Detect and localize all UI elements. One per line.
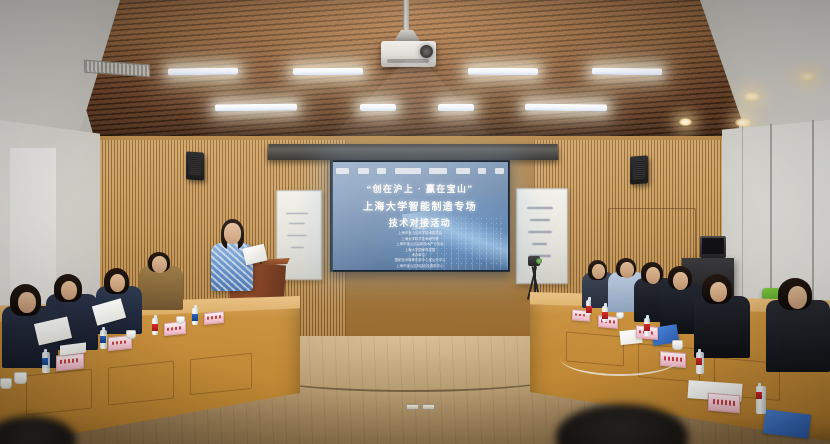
projection-screen-valance (268, 144, 559, 160)
ceiling-light-panel (168, 68, 238, 76)
slide-logo-icon (358, 168, 369, 174)
slide-logo-icon (495, 168, 504, 174)
attendee-torso (694, 296, 750, 358)
ceiling-light-panel (592, 68, 662, 76)
water-bottle (602, 306, 608, 322)
name-placard (204, 311, 224, 325)
ceiling-light-panel (293, 68, 363, 75)
conference-room-photo: “创在沪上 · 赢在宝山” 上海大学智能制造专场 技术对接活动 主办单位： 上海… (0, 0, 830, 444)
attendee-head (673, 272, 688, 290)
floor-power-outlet (406, 404, 419, 410)
name-placard (708, 393, 740, 414)
attendee-head (110, 274, 125, 292)
ceiling-light-panel (215, 104, 297, 112)
floor-power-outlet (422, 404, 435, 410)
projector-mount-pole (403, 0, 409, 33)
recessed-downlight (744, 92, 760, 101)
attendee-head (592, 264, 605, 279)
paper-cup (0, 378, 12, 389)
whiteboard-right (516, 188, 568, 284)
paper-cup (126, 330, 136, 339)
attendee-torso (766, 300, 830, 372)
tripod-leg (534, 266, 536, 296)
wall-speaker-right (630, 155, 648, 184)
projector-lens-icon (420, 45, 433, 58)
recessed-downlight (679, 118, 692, 126)
presentation-slide: “创在沪上 · 赢在宝山” 上海大学智能制造专场 技术对接活动 主办单位： 上海… (332, 162, 508, 270)
name-placard (598, 315, 618, 329)
slide-logo-icon (377, 168, 386, 174)
water-bottle (100, 330, 107, 349)
ceiling-light-panel (360, 104, 396, 111)
table-panel (190, 353, 252, 396)
table-panel (26, 369, 92, 416)
attendee-head (620, 262, 634, 278)
slide-credit-line: 上海大学国家科技园 (405, 248, 436, 252)
slide-logo-icon (429, 168, 447, 174)
water-bottle (586, 300, 591, 315)
slide-credits-block: 主办单位： 上海市宝山区科学技术委员会 上海大学科学技术研究院 上海市宝山区高新… (332, 226, 508, 268)
water-bottle (42, 352, 50, 373)
projection-screen: “创在沪上 · 赢在宝山” 上海大学智能制造专场 技术对接活动 主办单位： 上海… (330, 160, 510, 272)
screen-left-edge (330, 160, 333, 272)
attendee-head (18, 292, 36, 313)
paper-cup (672, 340, 683, 350)
presenter-head (224, 223, 241, 244)
slide-logo-icon (336, 168, 349, 174)
water-bottle (152, 318, 158, 335)
slide-title-block: “创在沪上 · 赢在宝山” 上海大学智能制造专场 技术对接活动 (332, 182, 508, 229)
slide-credit-line: 主办单位： (412, 226, 429, 230)
ceiling-light-panel (468, 68, 538, 75)
slide-logo-row (336, 166, 504, 175)
attendee-head (152, 256, 167, 273)
camera-lens-icon (536, 258, 542, 264)
recessed-downlight (800, 72, 816, 81)
slide-title-line-1: “创在沪上 · 赢在宝山” (367, 182, 474, 195)
slide-logo-icon (395, 168, 421, 174)
attendee-head (710, 282, 727, 302)
water-bottle (756, 386, 766, 414)
ceiling-light-panel (525, 104, 607, 112)
paper-cup (176, 316, 185, 324)
recessed-downlight (735, 118, 751, 127)
water-bottle (192, 308, 198, 325)
slide-title-line-2: 上海大学智能制造专场 (363, 198, 477, 213)
ceiling-light-panel (438, 104, 474, 111)
control-monitor (700, 236, 726, 258)
water-bottle (644, 318, 650, 336)
slide-credit-line: 上海大学科学技术研究院 (401, 237, 438, 241)
slide-logo-icon (478, 168, 486, 174)
slide-logo-icon (456, 168, 470, 174)
table-cable (560, 340, 680, 376)
wall-speaker-left (186, 151, 204, 180)
water-bottle (696, 352, 704, 374)
paper-cup (14, 372, 27, 384)
attendee-head (61, 281, 77, 300)
table-panel (108, 361, 174, 406)
slide-credit-line: 承办单位： (412, 253, 429, 257)
attendee-head (646, 267, 660, 284)
attendee-head (788, 286, 807, 309)
slide-credit-line: 上海市宝山区高新技术产业协会 (396, 242, 443, 246)
slide-credit-line: 上海市宝山区科技创业服务中心 (396, 264, 443, 268)
slide-credit-line: 上海市宝山区科学技术委员会 (398, 231, 442, 235)
slide-credit-line: 国家技术转移东部中心宝山分中心 (395, 258, 446, 262)
